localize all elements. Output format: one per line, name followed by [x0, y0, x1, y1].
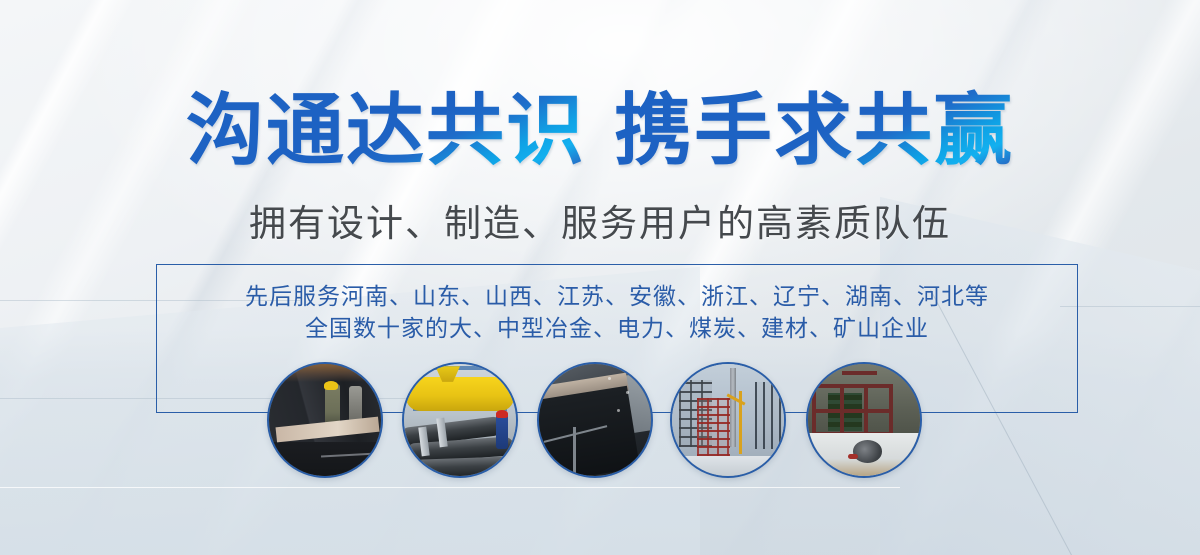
promo-banner: 沟通达共识携手求共赢 拥有设计、制造、服务用户的高素质队伍 先后服务河南、山东、…	[0, 0, 1200, 555]
photo-1-floor	[269, 442, 381, 476]
photo-5-machine-part	[853, 440, 882, 462]
photo-dark-steel-structure[interactable]	[537, 362, 653, 478]
photo-4-image	[672, 364, 784, 476]
photo-5-machine-part-red	[848, 454, 858, 460]
photo-5-image	[808, 364, 920, 476]
photo-1-worker	[325, 384, 340, 434]
photo-4-stack	[730, 368, 736, 446]
photo-2-helmet	[496, 410, 508, 418]
photo-4-right-structure	[755, 382, 782, 449]
photo-2-worker	[496, 413, 508, 449]
photo-gallery	[0, 0, 1200, 555]
photo-5-frame-rail	[812, 409, 893, 413]
photo-4-red-framework	[697, 398, 731, 456]
photo-steel-lining-installation[interactable]	[267, 362, 383, 478]
photo-1-image	[269, 364, 381, 476]
photo-2-image	[404, 364, 516, 476]
photo-3-strut-2	[573, 427, 576, 474]
photo-1-helmet	[324, 381, 339, 390]
photo-construction-site-crane[interactable]	[670, 362, 786, 478]
photo-4-base	[672, 456, 784, 476]
photo-5-top-rail	[842, 371, 878, 375]
photo-2-tank	[406, 377, 514, 411]
photo-3-image	[539, 364, 651, 476]
photo-1-worker-second	[349, 386, 362, 433]
photo-2-pipe-3	[413, 456, 518, 478]
photo-yellow-plant-pipes[interactable]	[402, 362, 518, 478]
photo-3-body	[537, 386, 639, 478]
photo-workshop-machinery[interactable]	[806, 362, 922, 478]
